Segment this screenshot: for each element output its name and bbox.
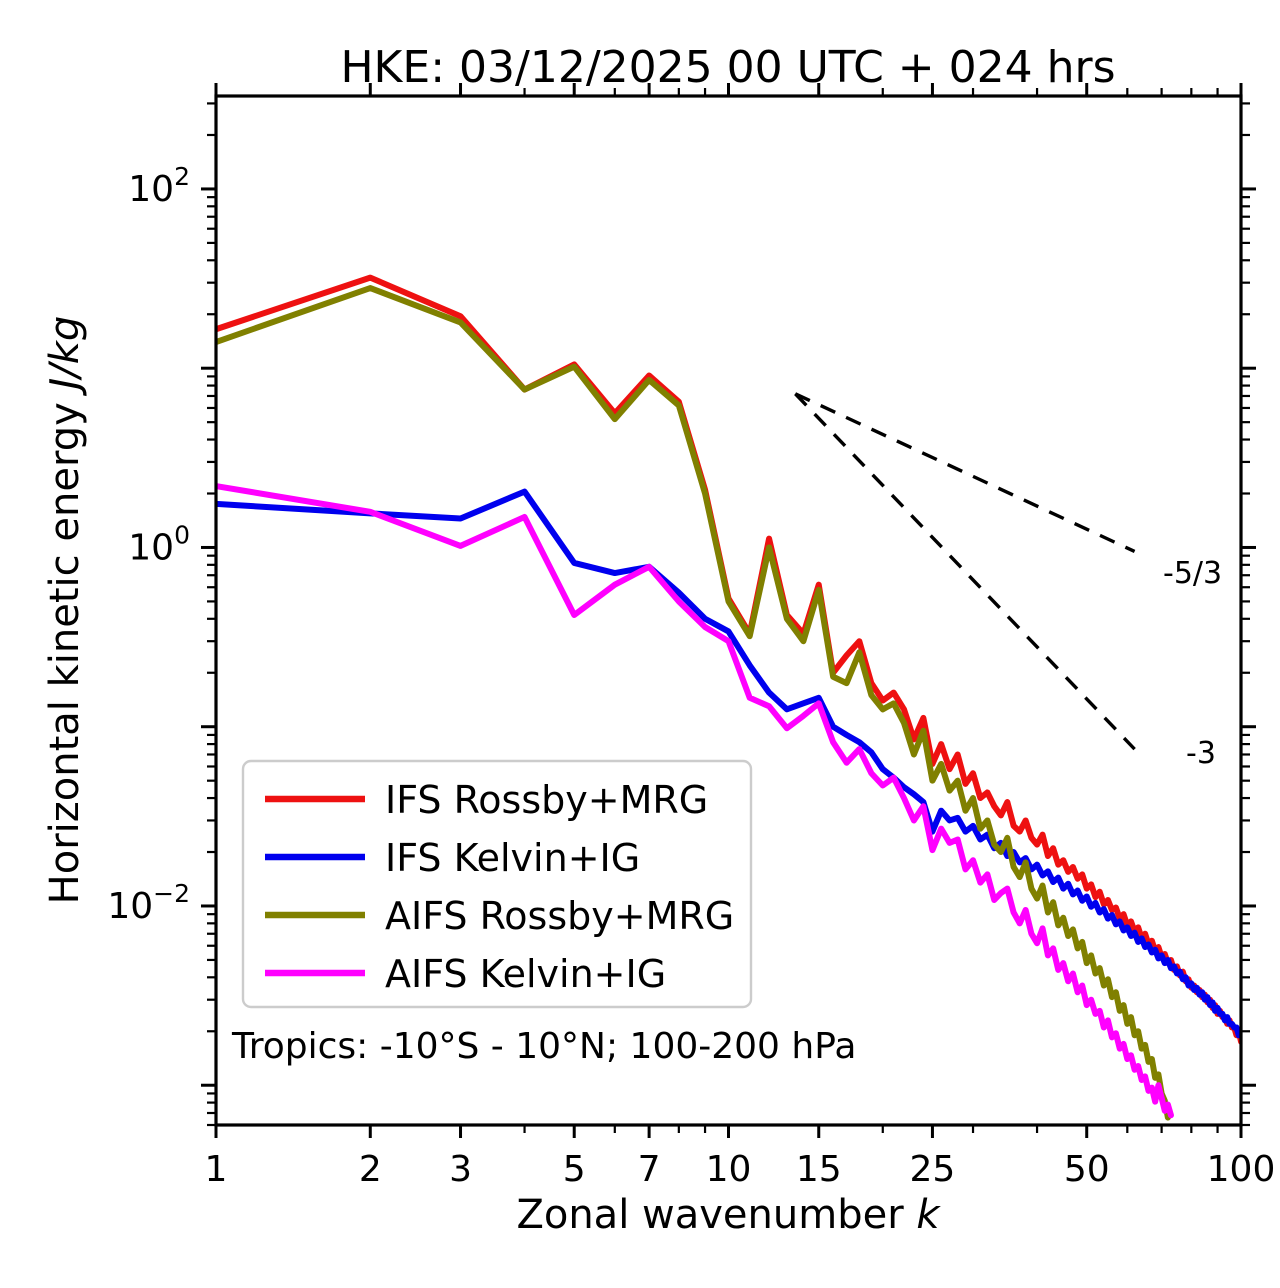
y-tick-label: 102 [128,162,190,210]
legend-label[interactable]: AIFS Kelvin+IG [385,952,666,996]
reference-slope-lines [795,394,1134,749]
legend-label[interactable]: IFS Kelvin+IG [385,836,640,880]
x-tick-label: 2 [359,1149,382,1190]
x-tick-label: 100 [1207,1149,1276,1190]
x-axis-label-main: Zonal wavenumber [516,1192,916,1238]
x-tick-label: 7 [638,1149,661,1190]
legend-label[interactable]: IFS Rossby+MRG [385,778,708,822]
y-axis-label-main: Horizontal kinetic energy [42,390,88,905]
y-tick-label: 10−2 [107,879,190,927]
x-tick-label: 25 [910,1149,956,1190]
x-tick-label: 10 [706,1149,752,1190]
slope-label: -5/3 [1163,556,1222,591]
x-axis-label-symbol: k [916,1192,941,1238]
legend-label[interactable]: AIFS Rossby+MRG [385,894,734,938]
x-tick-label: 1 [205,1149,228,1190]
x-tick-label: 50 [1064,1149,1110,1190]
x-tick-label: 3 [449,1149,472,1190]
x-tick-label: 5 [563,1149,586,1190]
region-annotation: Tropics: -10°S - 10°N; 100-200 hPa [231,1026,856,1067]
y-axis-label-units: J/kg [42,316,88,397]
slope-label: -3 [1186,736,1216,771]
y-axis-label: Horizontal kinetic energy J/kg [42,316,88,905]
x-tick-label: 15 [796,1149,842,1190]
reference-line [795,394,1134,552]
chart-canvas: HKE: 03/12/2025 00 UTC + 024 hrs Horizon… [0,0,1280,1288]
y-tick-label: 100 [128,520,190,568]
reference-slope-labels: -5/3-3 [1163,556,1222,771]
chart-legend[interactable]: IFS Rossby+MRGIFS Kelvin+IGAIFS Rossby+M… [243,761,751,1007]
figure-root: HKE: 03/12/2025 00 UTC + 024 hrs Horizon… [0,0,1280,1288]
x-axis-label: Zonal wavenumber k [516,1192,941,1238]
reference-line [795,394,1134,749]
